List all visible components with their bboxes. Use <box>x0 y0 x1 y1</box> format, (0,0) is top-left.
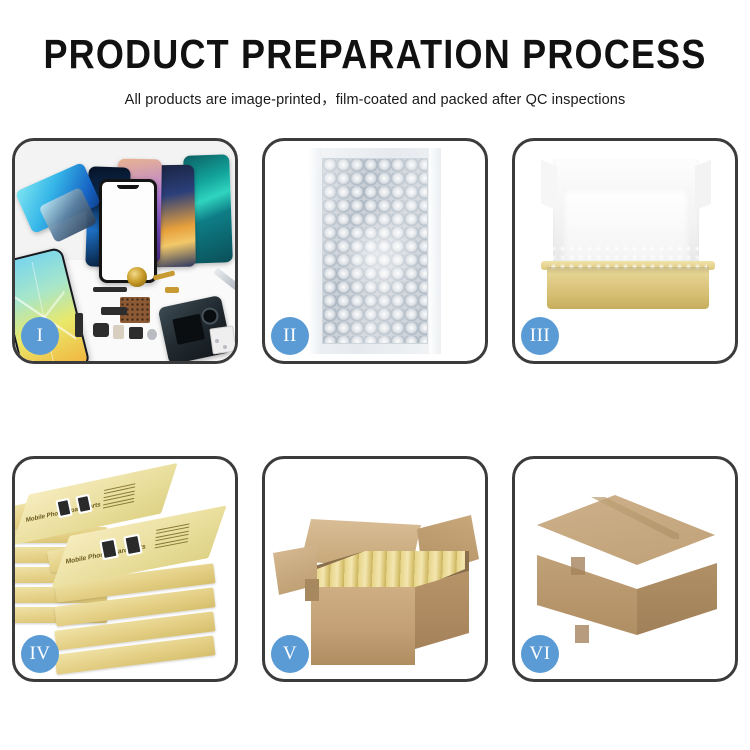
page-header: PRODUCT PREPARATION PROCESS All products… <box>0 0 750 109</box>
step-panel-6: VI <box>512 456 738 682</box>
step-panel-4: Mobile Phone Spare Parts Mobile Phone Sp… <box>12 456 238 682</box>
gold-connector-part <box>165 287 179 293</box>
carton-handle-tab-bottom <box>575 625 589 643</box>
screw-part <box>147 329 157 340</box>
bubble-pattern <box>322 158 428 344</box>
bubble-wrap-pouch <box>309 148 441 354</box>
carton-handle-tab-top <box>571 557 585 575</box>
pouch-seam-left <box>309 148 321 354</box>
process-steps-grid: I II III <box>12 138 738 682</box>
step-panel-5: V <box>262 456 488 682</box>
speaker-coil-part <box>127 267 147 287</box>
step-badge-5: V <box>271 635 309 673</box>
button-part <box>129 327 143 339</box>
step-panel-2: II <box>262 138 488 364</box>
small-screw-b <box>223 345 227 349</box>
step-badge-3: III <box>521 317 559 355</box>
carton-tab-left <box>305 579 319 601</box>
step-badge-6: VI <box>521 635 559 673</box>
step-panel-3: III <box>512 138 738 364</box>
sealed-carton-top <box>537 495 715 565</box>
screen-protector-glass <box>99 179 157 283</box>
kraft-box-tray <box>547 267 709 309</box>
vibrator-part <box>93 323 109 337</box>
pouch-seam-right <box>429 148 441 354</box>
carton-front-face <box>311 587 415 665</box>
camera-module-part <box>101 307 127 315</box>
flex-cable-part <box>93 287 127 292</box>
step-badge-4: IV <box>21 635 59 673</box>
step-badge-1: I <box>21 317 59 355</box>
sim-tray-part <box>113 325 124 339</box>
step-panel-1: I <box>12 138 238 364</box>
small-screw-a <box>215 339 219 343</box>
page-subtitle: All products are image-printed，film-coat… <box>0 88 750 109</box>
sim-card-part <box>209 325 235 354</box>
step-badge-2: II <box>271 317 309 355</box>
page-title: PRODUCT PREPARATION PROCESS <box>0 32 750 77</box>
side-key-part <box>75 313 83 337</box>
